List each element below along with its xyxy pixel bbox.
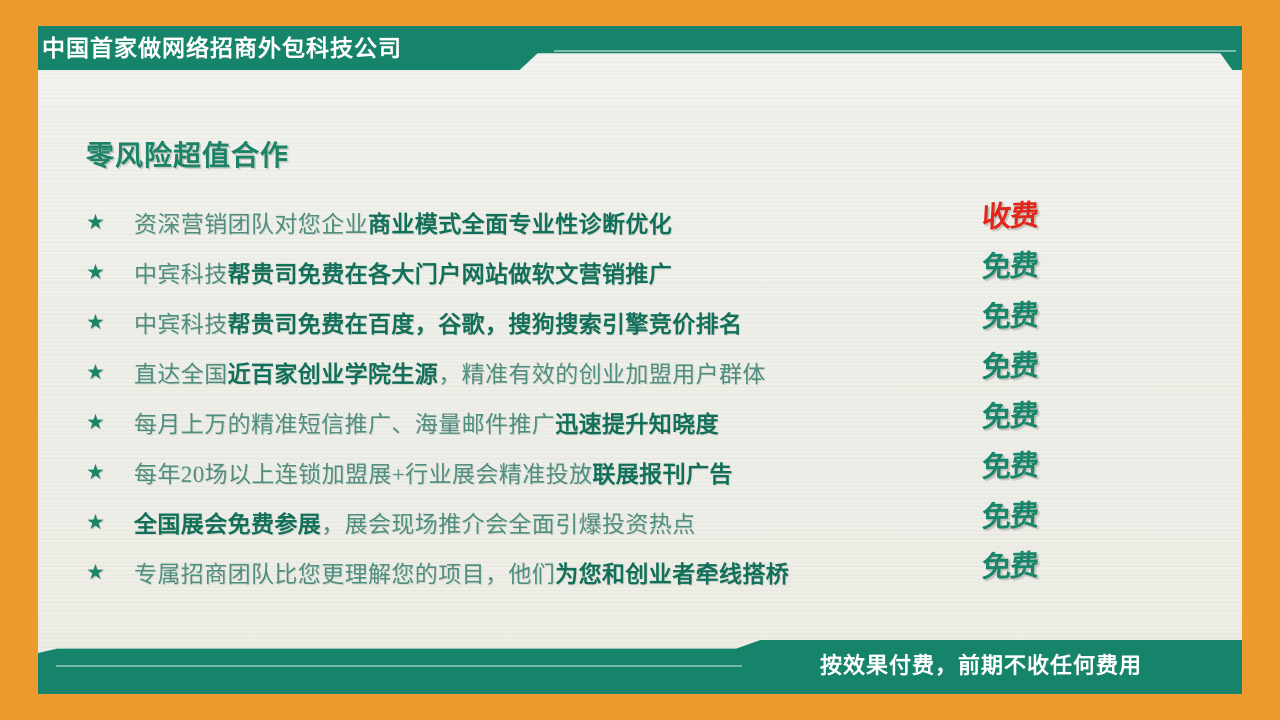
header-title: 中国首家做网络招商外包科技公司 bbox=[42, 31, 602, 65]
list-item-plain: 中宾科技 bbox=[134, 312, 228, 337]
star-bullet-icon: ★ bbox=[86, 312, 134, 333]
list-item-emphasis: 迅速提升知晓度 bbox=[555, 412, 719, 437]
list-item-plain: 资深营销团队对您企业 bbox=[134, 212, 368, 237]
slide-root: 中国首家做网络招商外包科技公司 零风险超值合作 ★资深营销团队对您企业商业模式全… bbox=[0, 0, 1280, 720]
footer-tagline: 按效果付费，前期不收任何费用 bbox=[820, 648, 1220, 684]
status-badge: 免费 bbox=[950, 492, 1070, 542]
page-title: 零风险超值合作 bbox=[86, 134, 289, 174]
list-item-text: 直达全国近百家创业学院生源，精准有效的创业加盟用户群体 bbox=[134, 355, 766, 389]
status-badge: 免费 bbox=[950, 392, 1070, 442]
list-item-text: 中宾科技帮贵司免费在各大门户网站做软文营销推广 bbox=[134, 255, 672, 289]
benefit-list: ★资深营销团队对您企业商业模式全面专业性诊断优化★中宾科技帮贵司免费在各大门户网… bbox=[86, 197, 926, 597]
list-item-emphasis: 帮贵司免费在百度，谷歌，搜狗搜索引擎竞价排名 bbox=[228, 312, 743, 337]
list-item: ★中宾科技帮贵司免费在各大门户网站做软文营销推广 bbox=[86, 247, 926, 297]
status-badge-label: 免费 bbox=[981, 402, 1039, 433]
list-item-plain: 中宾科技 bbox=[134, 262, 228, 287]
fee-badge-column: 收费免费免费免费免费免费免费免费 bbox=[950, 192, 1070, 592]
list-item-emphasis: 近百家创业学院生源 bbox=[228, 362, 439, 387]
status-badge-label: 免费 bbox=[981, 502, 1039, 533]
status-badge-label: 免费 bbox=[981, 452, 1039, 483]
list-item-plain: ，精准有效的创业加盟用户群体 bbox=[438, 362, 766, 387]
list-item-plain: 专属招商团队比您更理解您的项目，他们 bbox=[134, 562, 555, 587]
list-item-text: 中宾科技帮贵司免费在百度，谷歌，搜狗搜索引擎竞价排名 bbox=[134, 305, 742, 339]
status-badge-label: 免费 bbox=[981, 552, 1039, 583]
list-item-text: 每月上万的精准短信推广、海量邮件推广迅速提升知晓度 bbox=[134, 405, 719, 439]
list-item-plain: ，展会现场推介会全面引爆投资热点 bbox=[321, 512, 695, 537]
list-item: ★直达全国近百家创业学院生源，精准有效的创业加盟用户群体 bbox=[86, 347, 926, 397]
list-item-text: 资深营销团队对您企业商业模式全面专业性诊断优化 bbox=[134, 205, 672, 239]
list-item-emphasis: 联展报刊广告 bbox=[592, 462, 732, 487]
list-item-emphasis: 全国展会免费参展 bbox=[134, 512, 321, 537]
list-item: ★每月上万的精准短信推广、海量邮件推广迅速提升知晓度 bbox=[86, 397, 926, 447]
star-bullet-icon: ★ bbox=[86, 362, 134, 383]
star-bullet-icon: ★ bbox=[86, 212, 134, 233]
star-bullet-icon: ★ bbox=[86, 262, 134, 283]
list-item: ★每年20场以上连锁加盟展+行业展会精准投放联展报刊广告 bbox=[86, 447, 926, 497]
status-badge-label: 免费 bbox=[981, 252, 1039, 283]
list-item: ★中宾科技帮贵司免费在百度，谷歌，搜狗搜索引擎竞价排名 bbox=[86, 297, 926, 347]
list-item-emphasis: 帮贵司免费在各大门户网站做软文营销推广 bbox=[228, 262, 673, 287]
status-badge: 免费 bbox=[950, 242, 1070, 292]
list-item: ★全国展会免费参展，展会现场推介会全面引爆投资热点 bbox=[86, 497, 926, 547]
footer-hairline-divider bbox=[56, 665, 742, 667]
list-item-emphasis: 商业模式全面专业性诊断优化 bbox=[368, 212, 672, 237]
star-bullet-icon: ★ bbox=[86, 412, 134, 433]
status-badge: 免费 bbox=[950, 542, 1070, 592]
star-bullet-icon: ★ bbox=[86, 512, 134, 533]
status-badge-label: 收费 bbox=[981, 202, 1039, 233]
status-badge-label: 免费 bbox=[981, 352, 1039, 383]
status-badge: 免费 bbox=[950, 342, 1070, 392]
list-item: ★资深营销团队对您企业商业模式全面专业性诊断优化 bbox=[86, 197, 926, 247]
list-item-plain: 每月上万的精准短信推广、海量邮件推广 bbox=[134, 412, 555, 437]
list-item-text: 每年20场以上连锁加盟展+行业展会精准投放联展报刊广告 bbox=[134, 455, 733, 489]
status-badge-label: 免费 bbox=[981, 302, 1039, 333]
status-badge: 免费 bbox=[950, 292, 1070, 342]
star-bullet-icon: ★ bbox=[86, 562, 134, 583]
list-item-plain: 每年20场以上连锁加盟展+行业展会精准投放 bbox=[134, 462, 592, 487]
status-badge: 免费 bbox=[950, 442, 1070, 492]
list-item-text: 专属招商团队比您更理解您的项目，他们为您和创业者牵线搭桥 bbox=[134, 555, 789, 589]
header-hairline-divider bbox=[554, 50, 1236, 52]
status-badge: 收费 bbox=[950, 192, 1070, 242]
list-item-plain: 直达全国 bbox=[134, 362, 228, 387]
list-item: ★专属招商团队比您更理解您的项目，他们为您和创业者牵线搭桥 bbox=[86, 547, 926, 597]
list-item-emphasis: 为您和创业者牵线搭桥 bbox=[555, 562, 789, 587]
list-item-text: 全国展会免费参展，展会现场推介会全面引爆投资热点 bbox=[134, 505, 696, 539]
star-bullet-icon: ★ bbox=[86, 462, 134, 483]
